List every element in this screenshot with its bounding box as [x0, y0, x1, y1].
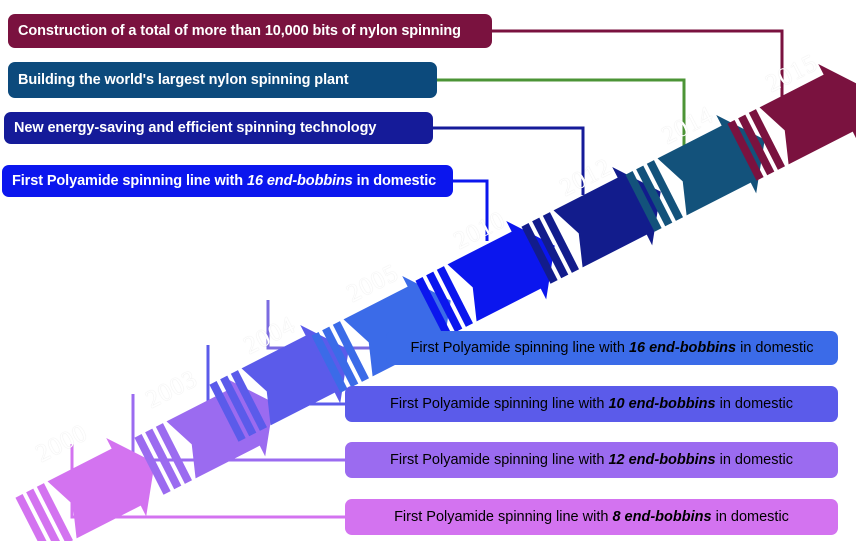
- callout-suffix-12: in domestic: [716, 452, 793, 468]
- callout-text-16-bobbins-bottom: First Polyamide spinning line with 16 en…: [403, 341, 822, 356]
- callout-box-8-bobbins[interactable]: First Polyamide spinning line with 8 end…: [345, 499, 838, 535]
- callout-box-10-bobbins[interactable]: First Polyamide spinning line with 10 en…: [345, 386, 838, 422]
- callout-text-12-bobbins: First Polyamide spinning line with 12 en…: [382, 453, 801, 468]
- connector-2015: [492, 31, 782, 104]
- timeline-diagram: 2000 2003 2004 2005 2010 2012 2014 2015 …: [0, 0, 856, 541]
- callout-text-8-bobbins: First Polyamide spinning line with 8 end…: [386, 510, 797, 525]
- callout-emphasis-8: 8 end-bobbins: [612, 509, 711, 525]
- callout-box-16-bobbins-bottom[interactable]: First Polyamide spinning line with 16 en…: [386, 331, 838, 365]
- callout-suffix-16-top: in domestic: [353, 173, 436, 189]
- callout-box-largest-plant[interactable]: Building the world's largest nylon spinn…: [8, 62, 437, 98]
- callout-text-16-bobbins-top: First Polyamide spinning line with 16 en…: [2, 174, 446, 189]
- callout-prefix-12: First Polyamide spinning line with: [390, 452, 608, 468]
- callout-emphasis-12: 12 end-bobbins: [608, 452, 715, 468]
- callout-emphasis-10: 10 end-bobbins: [608, 396, 715, 412]
- callout-suffix-8: in domestic: [712, 509, 789, 525]
- callout-prefix-10: First Polyamide spinning line with: [390, 396, 608, 412]
- callout-box-12-bobbins[interactable]: First Polyamide spinning line with 12 en…: [345, 442, 838, 478]
- callout-suffix-16-bottom: in domestic: [736, 340, 813, 356]
- callout-suffix-10: in domestic: [716, 396, 793, 412]
- callout-text-energy-saving: New energy-saving and efficient spinning…: [4, 121, 386, 136]
- connector-2014: [437, 80, 684, 146]
- callout-box-energy-saving[interactable]: New energy-saving and efficient spinning…: [4, 112, 433, 144]
- callout-prefix-8: First Polyamide spinning line with: [394, 509, 612, 525]
- callout-box-construction[interactable]: Construction of a total of more than 10,…: [8, 14, 492, 48]
- callout-prefix-16-top: First Polyamide spinning line with: [12, 173, 247, 189]
- callout-text-10-bobbins: First Polyamide spinning line with 10 en…: [382, 397, 801, 412]
- callout-box-16-bobbins-top[interactable]: First Polyamide spinning line with 16 en…: [2, 165, 453, 197]
- callout-text-construction: Construction of a total of more than 10,…: [8, 24, 471, 39]
- callout-emphasis-16-top: 16 end-bobbins: [247, 173, 353, 189]
- callout-emphasis-16-bottom: 16 end-bobbins: [629, 340, 736, 356]
- callout-prefix-16-bottom: First Polyamide spinning line with: [411, 340, 629, 356]
- callout-text-largest-plant: Building the world's largest nylon spinn…: [8, 73, 358, 88]
